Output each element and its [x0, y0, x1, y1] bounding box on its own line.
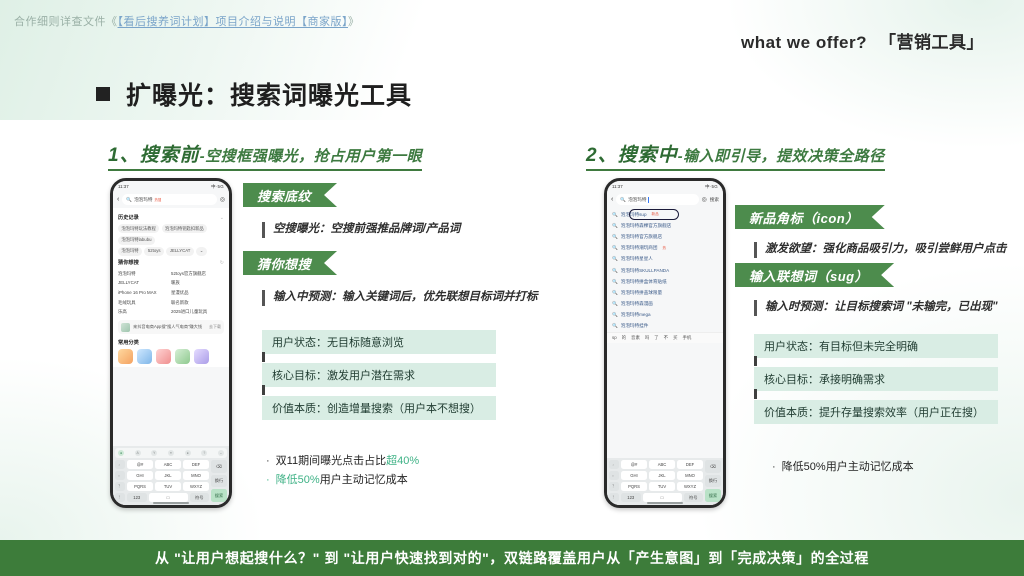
- phone-content-area: 历史记录 ⌄ 泡泡玛特玩法教程 泡泡玛特钥匙扣新品 泡泡玛特labubu 泡泡玛…: [113, 208, 229, 367]
- key-space[interactable]: □: [149, 493, 188, 502]
- suggestion-item[interactable]: 🔍 泡泡玛特官方旗舰店: [607, 231, 723, 242]
- callout-banner-guess-search: 猜你想搜: [243, 251, 337, 275]
- search-icon: 🔍: [612, 312, 618, 318]
- keyboard-toolbar: ● A Y ≡ ● ? ⌄: [115, 448, 227, 458]
- candidate[interactable]: 了: [654, 335, 658, 341]
- key[interactable]: JKL: [649, 471, 675, 480]
- history-chip[interactable]: 泡泡玛特钥匙扣新品: [162, 224, 207, 233]
- guess-item[interactable]: 毛绒玩具: [118, 298, 171, 308]
- history-chip[interactable]: 泡泡玛特玩法教程: [118, 224, 159, 233]
- chevron-down-icon[interactable]: ⌄: [218, 450, 224, 456]
- text-caret: [648, 197, 649, 203]
- guess-item[interactable]: 泡泡玛特: [118, 269, 171, 279]
- status-signal: 中·5G: [705, 184, 718, 190]
- candidate[interactable]: 买: [673, 335, 677, 341]
- guess-item[interactable]: 52toys官方旗舰店: [171, 269, 224, 279]
- category-icon[interactable]: [175, 349, 190, 364]
- guess-section-header: 猜你想搜 ↻: [118, 259, 224, 266]
- header-tagline-en: what we offer?: [741, 33, 867, 52]
- camera-icon[interactable]: ◎: [702, 196, 707, 203]
- home-indicator: [647, 502, 683, 504]
- key[interactable]: TUV: [155, 482, 181, 491]
- search-icon: 🔍: [620, 197, 626, 203]
- key[interactable]: @#: [621, 460, 647, 469]
- search-icon: 🔍: [612, 256, 618, 262]
- suggestion-text: 泡泡玛特挂件: [621, 323, 649, 329]
- stat-post: 降低50%用户主动记忆成本: [782, 461, 914, 473]
- info-row-user-state-right: 用户状态：有目标但未完全明确: [754, 334, 998, 358]
- stats-bullets-right: 降低50%用户主动记忆成本: [772, 458, 914, 477]
- history-chip-row-1: 泡泡玛特玩法教程 泡泡玛特钥匙扣新品 泡泡玛特labubu: [118, 224, 224, 245]
- top-note-suffix: 》: [348, 16, 360, 28]
- suggestion-text: 泡泡玛特mega: [621, 312, 651, 318]
- guess-title: 猜你想搜: [118, 259, 139, 266]
- back-arrow-icon[interactable]: ‹: [117, 196, 119, 203]
- keyboard-punct-column: ， 。 ？ ！: [609, 460, 619, 502]
- key-punct[interactable]: ？: [115, 482, 125, 491]
- info-row-core-goal-right: 核心目标：承接明确需求: [754, 367, 998, 391]
- keyboard-grid: ， 。 ？ ！ @# ABC DEF GHI JKL MNO PQRS T: [609, 460, 721, 502]
- suggestion-list: 🔍 泡泡玛特sup 新品 🔍 泡泡玛特森棵官方旗舰店 🔍 泡泡玛特官方旗舰店 🔍…: [607, 208, 723, 332]
- history-chip-more-icon[interactable]: ⌄: [196, 247, 206, 256]
- stat-bullet: 降低50%用户主动记忆成本: [772, 458, 914, 477]
- keyboard-function-column: ⌫ 换行 搜索: [211, 460, 227, 502]
- history-section-header: 历史记录 ⌄: [118, 214, 224, 221]
- keyboard-row: PQRS TUV WXYZ: [127, 482, 209, 491]
- guess-item[interactable]: iPhone 16 Pro MAX: [118, 288, 171, 298]
- suggestion-item[interactable]: 🔍 泡泡玛特拼盒体育贴纸: [607, 276, 723, 287]
- search-icon: 🔍: [612, 323, 618, 329]
- key[interactable]: DEF: [677, 460, 703, 469]
- stat-post: 用户主动记忆成本: [320, 474, 408, 486]
- background-wash-top-right: [724, 0, 1024, 150]
- search-input[interactable]: 🔍 泡泡玛特 热搜: [122, 194, 216, 205]
- status-signal: 中·5G: [211, 184, 224, 190]
- phone-status-bar: 11:37 中·5G: [113, 181, 229, 192]
- key-newline[interactable]: 换行: [705, 475, 721, 488]
- history-chip[interactable]: 泡泡玛特: [118, 247, 142, 256]
- key-punct[interactable]: ？: [609, 482, 619, 491]
- promo-download-button[interactable]: 去下载: [209, 324, 221, 330]
- key-punct[interactable]: ，: [115, 460, 125, 469]
- search-input-value: 泡泡玛特: [134, 197, 152, 203]
- input-candidate-bar: sp 的 音素 吗 了 不 买 手机: [607, 332, 723, 343]
- keyboard-row: GHI JKL MNO: [127, 471, 209, 480]
- suggestion-text: 泡泡玛特拼盖球限量: [621, 290, 662, 296]
- suggestion-item[interactable]: 🔍 泡泡玛特挂件: [607, 321, 723, 332]
- suggestion-item[interactable]: 🔍 泡泡玛特森棵官方旗舰店: [607, 220, 723, 231]
- phone-search-bar[interactable]: ‹ 🔍 泡泡玛特 热搜 ◎: [113, 192, 229, 208]
- home-indicator: [153, 502, 189, 504]
- back-arrow-icon[interactable]: ‹: [611, 196, 613, 203]
- search-input-value: 泡泡玛特: [628, 197, 646, 203]
- info-row-value-essence-left: 价值本质：创造增量搜索（用户本不想搜）: [262, 396, 496, 420]
- help-icon[interactable]: ?: [201, 450, 207, 456]
- search-icon: 🔍: [612, 301, 618, 307]
- keyboard-row: @# ABC DEF: [127, 460, 209, 469]
- key-search[interactable]: 搜索: [211, 489, 227, 502]
- suggestion-item[interactable]: 🔍 泡泡玛特mega: [607, 310, 723, 321]
- phone-mockup-search-before: 11:37 中·5G ‹ 🔍 泡泡玛特 热搜 ◎ 历史记录 ⌄ 泡泡玛特玩法教程…: [110, 178, 232, 508]
- column-index-1: 1、: [108, 145, 140, 166]
- footer-banner: 从 "让用户想起搜什么？" 到 "让用户快速找到对的"，双链路覆盖用户从「产生意…: [0, 540, 1024, 576]
- search-icon: 🔍: [612, 234, 618, 240]
- footer-text: 从 "让用户想起搜什么？" 到 "让用户快速找到对的"，双链路覆盖用户从「产生意…: [155, 548, 869, 568]
- stat-pre: 双11期间曝光点击占比: [276, 455, 386, 467]
- hot-badge: 热: [663, 246, 667, 251]
- guess-item[interactable]: 联名新款: [171, 298, 224, 308]
- history-chip[interactable]: 泡泡玛特labubu: [118, 236, 155, 245]
- header-tagline: what we offer?「营销工具」: [741, 28, 984, 53]
- phone-mockup-search-during: 11:37 中·5G ‹ 🔍 泡泡玛特 ◎ 搜索 🔍 泡泡玛特sup 新品 🔍 …: [604, 178, 726, 508]
- guess-item[interactable]: 星漫优品: [171, 288, 224, 298]
- key[interactable]: ABC: [155, 460, 181, 469]
- key[interactable]: JKL: [155, 471, 181, 480]
- connector-tick: [262, 385, 265, 395]
- suggestion-text: 泡泡玛特官方旗舰店: [621, 234, 662, 240]
- info-row-core-goal-left: 核心目标：激发用户潜在需求: [262, 363, 496, 387]
- list-icon[interactable]: ≡: [168, 450, 174, 456]
- stats-bullets-left: 双11期间曝光点击占比超40% 降低50%用户主动记忆成本: [266, 452, 419, 489]
- description-empty-search: 空搜曝光：空搜前强推品牌词/产品词: [262, 222, 460, 238]
- key-punct[interactable]: ！: [115, 493, 125, 502]
- page-title-text: 扩曝光：搜索词曝光工具: [126, 76, 412, 112]
- search-icon: 🔍: [612, 279, 618, 285]
- phone-search-bar[interactable]: ‹ 🔍 泡泡玛特 ◎ 搜索: [607, 192, 723, 208]
- connector-tick: [262, 352, 265, 362]
- mic-green-icon[interactable]: ●: [118, 450, 124, 456]
- suggestion-text: 泡泡玛特森漫画: [621, 301, 653, 307]
- keyboard-function-column: ⌫ 换行 搜索: [705, 460, 721, 502]
- backspace-icon[interactable]: ⌫: [705, 460, 721, 473]
- key[interactable]: GHI: [127, 471, 153, 480]
- suggestion-text: 泡泡玛特森棵官方旗舰店: [621, 223, 672, 229]
- key[interactable]: WXYZ: [677, 482, 703, 491]
- keyboard-row: PQRS TUV WXYZ: [621, 482, 703, 491]
- new-product-badge: 新品: [652, 212, 659, 217]
- suggestion-text: 泡泡玛特星星人: [621, 256, 653, 262]
- keyboard-row: GHI JKL MNO: [621, 471, 703, 480]
- history-chip-row-2: 泡泡玛特 52toys JELLYCAT ⌄: [118, 247, 224, 256]
- column-title-1: 搜索前: [140, 145, 200, 166]
- column-subtitle-2: -输入即引导，提效决策全路径: [678, 148, 885, 165]
- column-index-2: 2、: [586, 145, 618, 166]
- candidate[interactable]: 手机: [682, 335, 691, 341]
- key-number-mode[interactable]: 123: [621, 493, 641, 502]
- translate-icon[interactable]: Y: [151, 450, 157, 456]
- key[interactable]: MNO: [183, 471, 209, 480]
- keyboard-main-keys: @# ABC DEF GHI JKL MNO PQRS TUV WXYZ 123…: [127, 460, 209, 502]
- mic-icon[interactable]: ●: [185, 450, 191, 456]
- candidate[interactable]: 吗: [645, 335, 649, 341]
- key-space[interactable]: □: [643, 493, 682, 502]
- status-time: 11:37: [612, 184, 623, 189]
- suggestion-item[interactable]: 🔍 泡泡玛特森漫画: [607, 299, 723, 310]
- search-icon: 🔍: [612, 245, 618, 251]
- history-chip[interactable]: 52toys: [144, 247, 163, 256]
- suggestion-text: 泡泡玛特SKULLPANDA: [621, 268, 669, 274]
- key-punct[interactable]: ，: [609, 460, 619, 469]
- top-note-link[interactable]: 【看后搜养词计划】项目介绍与说明【商家版】: [118, 16, 349, 28]
- key-punct[interactable]: ！: [609, 493, 619, 502]
- column-heading-search-before: 1、搜索前-空搜框强曝光，抢占用户第一眼: [108, 140, 422, 171]
- suggestion-item[interactable]: 🔍 泡泡玛特星星人: [607, 254, 723, 265]
- history-title: 历史记录: [118, 214, 139, 221]
- header-tagline-cn: 「营销工具」: [879, 33, 984, 52]
- guess-list: 泡泡玛特 52toys官方旗舰店 JELLYCAT 暖族 iPhone 16 P…: [118, 269, 224, 317]
- column-subtitle-1: -空搜框强曝光，抢占用户第一眼: [200, 148, 423, 165]
- phone-status-bar: 11:37 中·5G: [607, 181, 723, 192]
- guess-refresh-icon[interactable]: ↻: [220, 260, 224, 266]
- connector-tick: [754, 389, 757, 399]
- key[interactable]: MNO: [677, 471, 703, 480]
- search-input[interactable]: 🔍 泡泡玛特: [616, 194, 698, 205]
- connector-tick: [754, 356, 757, 366]
- suggestion-text: 泡泡玛特拼盒体育贴纸: [621, 279, 667, 285]
- key[interactable]: ABC: [649, 460, 675, 469]
- key[interactable]: GHI: [621, 471, 647, 480]
- history-chip[interactable]: JELLYCAT: [166, 247, 193, 256]
- top-note-prefix: 合作细则详查文件《: [14, 16, 118, 28]
- stat-bullet: 双11期间曝光点击占比超40%: [266, 452, 419, 471]
- column-heading-search-during: 2、搜索中-输入即引导，提效决策全路径: [586, 140, 885, 171]
- suggestion-item[interactable]: 🔍 泡泡玛特潮玩商团 热: [607, 243, 723, 254]
- stat-emphasis: 降低50%: [276, 474, 320, 486]
- info-row-user-state-left: 用户状态：无目标随意浏览: [262, 330, 496, 354]
- candidate[interactable]: 不: [664, 335, 668, 341]
- category-icon[interactable]: [156, 349, 171, 364]
- category-icon[interactable]: [137, 349, 152, 364]
- callout-banner-search-underlay: 搜索底纹: [243, 183, 337, 207]
- keyboard-punct-column: ， 。 ？ ！: [115, 460, 125, 502]
- status-time: 11:37: [118, 184, 129, 189]
- top-note: 合作细则详查文件《【看后搜养词计划】项目介绍与说明【商家版】》: [14, 13, 360, 29]
- category-title: 常用分类: [118, 339, 224, 346]
- search-icon: 🔍: [612, 268, 618, 274]
- suggestion-item[interactable]: 🔍 泡泡玛特SKULLPANDA: [607, 265, 723, 276]
- stat-bullet: 降低50%用户主动记忆成本: [266, 471, 419, 490]
- key-number-mode[interactable]: 123: [127, 493, 147, 502]
- key-search[interactable]: 搜索: [705, 489, 721, 502]
- guess-item[interactable]: 暖族: [171, 279, 224, 289]
- column-title-2: 搜索中: [618, 145, 678, 166]
- info-row-value-essence-right: 价值本质：提升存量搜索效率（用户正在搜）: [754, 400, 998, 424]
- phone-keyboard[interactable]: ， 。 ？ ！ @# ABC DEF GHI JKL MNO PQRS T: [607, 458, 723, 505]
- guess-item[interactable]: JELLYCAT: [118, 279, 171, 289]
- search-icon: 🔍: [612, 223, 618, 229]
- category-icon[interactable]: [118, 349, 133, 364]
- description-input-prediction: 输入时预测：让目标搜索词 "未输完，已出现": [754, 300, 1006, 316]
- key[interactable]: @#: [127, 460, 153, 469]
- search-icon: 🔍: [126, 197, 132, 203]
- callout-banner-sug: 输入联想词（sug）: [735, 263, 894, 287]
- guess-item[interactable]: 乐高: [118, 307, 171, 317]
- camera-icon[interactable]: ◎: [220, 196, 225, 203]
- keyboard-main-keys: @# ABC DEF GHI JKL MNO PQRS TUV WXYZ 123…: [621, 460, 703, 502]
- key[interactable]: WXYZ: [183, 482, 209, 491]
- candidate[interactable]: 的: [622, 335, 626, 341]
- search-hot-tag: 热搜: [154, 197, 161, 202]
- keyboard-row: @# ABC DEF: [621, 460, 703, 469]
- category-icon-row: [118, 349, 224, 364]
- promo-banner[interactable]: 来抖音电商App搜"搜人气电商"赚大钱 去下载: [118, 320, 224, 334]
- key-punct[interactable]: 。: [609, 471, 619, 480]
- suggestion-text: 泡泡玛特潮玩商团: [621, 245, 658, 251]
- candidate[interactable]: 音素: [631, 335, 640, 341]
- keyboard-bottom-row: 123 □ 符号: [621, 493, 703, 502]
- search-button[interactable]: 搜索: [710, 197, 719, 203]
- promo-thumbnail: [121, 323, 130, 332]
- keyboard-grid: ， 。 ？ ！ @# ABC DEF GHI JKL MNO PQRS T: [115, 460, 227, 502]
- candidate[interactable]: sp: [612, 335, 617, 341]
- suggestion-text: 泡泡玛特sup: [621, 212, 647, 218]
- stat-emphasis: 超40%: [386, 455, 419, 467]
- key[interactable]: DEF: [183, 460, 209, 469]
- keyboard-bottom-row: 123 □ 符号: [127, 493, 209, 502]
- key-symbol[interactable]: 符号: [684, 493, 704, 502]
- suggestion-item-highlighted[interactable]: 🔍 泡泡玛特sup 新品: [607, 209, 723, 220]
- category-icon[interactable]: [194, 349, 209, 364]
- history-expand-icon[interactable]: ⌄: [220, 215, 224, 221]
- key[interactable]: TUV: [649, 482, 675, 491]
- description-typing-prediction: 输入中预测：输入关键词后，优先联想目标词并打标: [262, 290, 538, 306]
- ai-icon[interactable]: A: [135, 450, 141, 456]
- callout-banner-new-product-icon: 新品角标（icon）: [735, 205, 885, 229]
- search-icon: 🔍: [612, 290, 618, 296]
- key[interactable]: PQRS: [621, 482, 647, 491]
- backspace-icon[interactable]: ⌫: [211, 460, 227, 473]
- description-desire-trigger: 激发欲望：强化商品吸引力，吸引尝鲜用户点击: [754, 242, 1007, 258]
- promo-text: 来抖音电商App搜"搜人气电商"赚大钱: [133, 324, 206, 330]
- key-symbol[interactable]: 符号: [190, 493, 210, 502]
- search-icon: 🔍: [612, 212, 618, 218]
- phone-keyboard[interactable]: ● A Y ≡ ● ? ⌄ ， 。 ？ ！ @# ABC DEF G: [113, 446, 229, 505]
- key[interactable]: PQRS: [127, 482, 153, 491]
- guess-item[interactable]: 2025进口儿童玩具: [171, 307, 224, 317]
- key-punct[interactable]: 。: [115, 471, 125, 480]
- page-title: 扩曝光：搜索词曝光工具: [96, 76, 412, 112]
- suggestion-item[interactable]: 🔍 泡泡玛特拼盖球限量: [607, 287, 723, 298]
- key-newline[interactable]: 换行: [211, 475, 227, 488]
- bullet-square-icon: [96, 87, 110, 101]
